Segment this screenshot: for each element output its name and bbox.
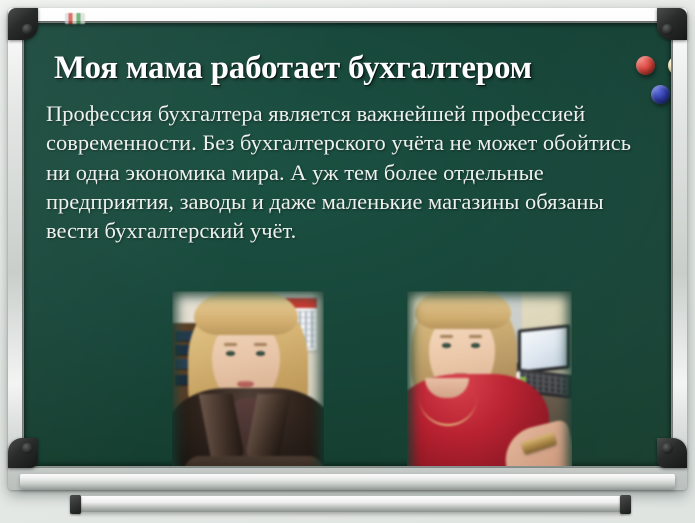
- whiteboard: Моя мама работает бухгалтером Профессия …: [8, 8, 687, 490]
- pen-tray-cap-left: [70, 495, 81, 514]
- photo-right-scene: [407, 291, 572, 466]
- magnet-cream-icon[interactable]: [668, 56, 671, 75]
- magnet-blue-icon[interactable]: [651, 85, 670, 104]
- board-bottom-ledge: [20, 474, 675, 489]
- frame-sticker-icon: [65, 13, 85, 24]
- corner-cap-top-right: [657, 8, 687, 40]
- pen-tray-rail: [78, 496, 623, 512]
- photo-left[interactable]: [172, 291, 324, 466]
- board-surface: Моя мама работает бухгалтером Профессия …: [24, 23, 671, 466]
- photo-left-scene: [172, 291, 324, 466]
- pen-tray-cap-right: [620, 495, 631, 514]
- slide-body-text: Профессия бухгалтера является важнейшей …: [46, 99, 658, 245]
- corner-cap-bottom-right: [657, 438, 687, 468]
- magnet-red-icon[interactable]: [636, 56, 655, 75]
- page-title: Моя мама работает бухгалтером: [54, 50, 634, 86]
- presentation-slide: Моя мама работает бухгалтером Профессия …: [0, 0, 695, 523]
- photo-right[interactable]: [407, 291, 572, 466]
- corner-cap-top-left: [8, 8, 38, 40]
- corner-cap-bottom-left: [8, 438, 38, 468]
